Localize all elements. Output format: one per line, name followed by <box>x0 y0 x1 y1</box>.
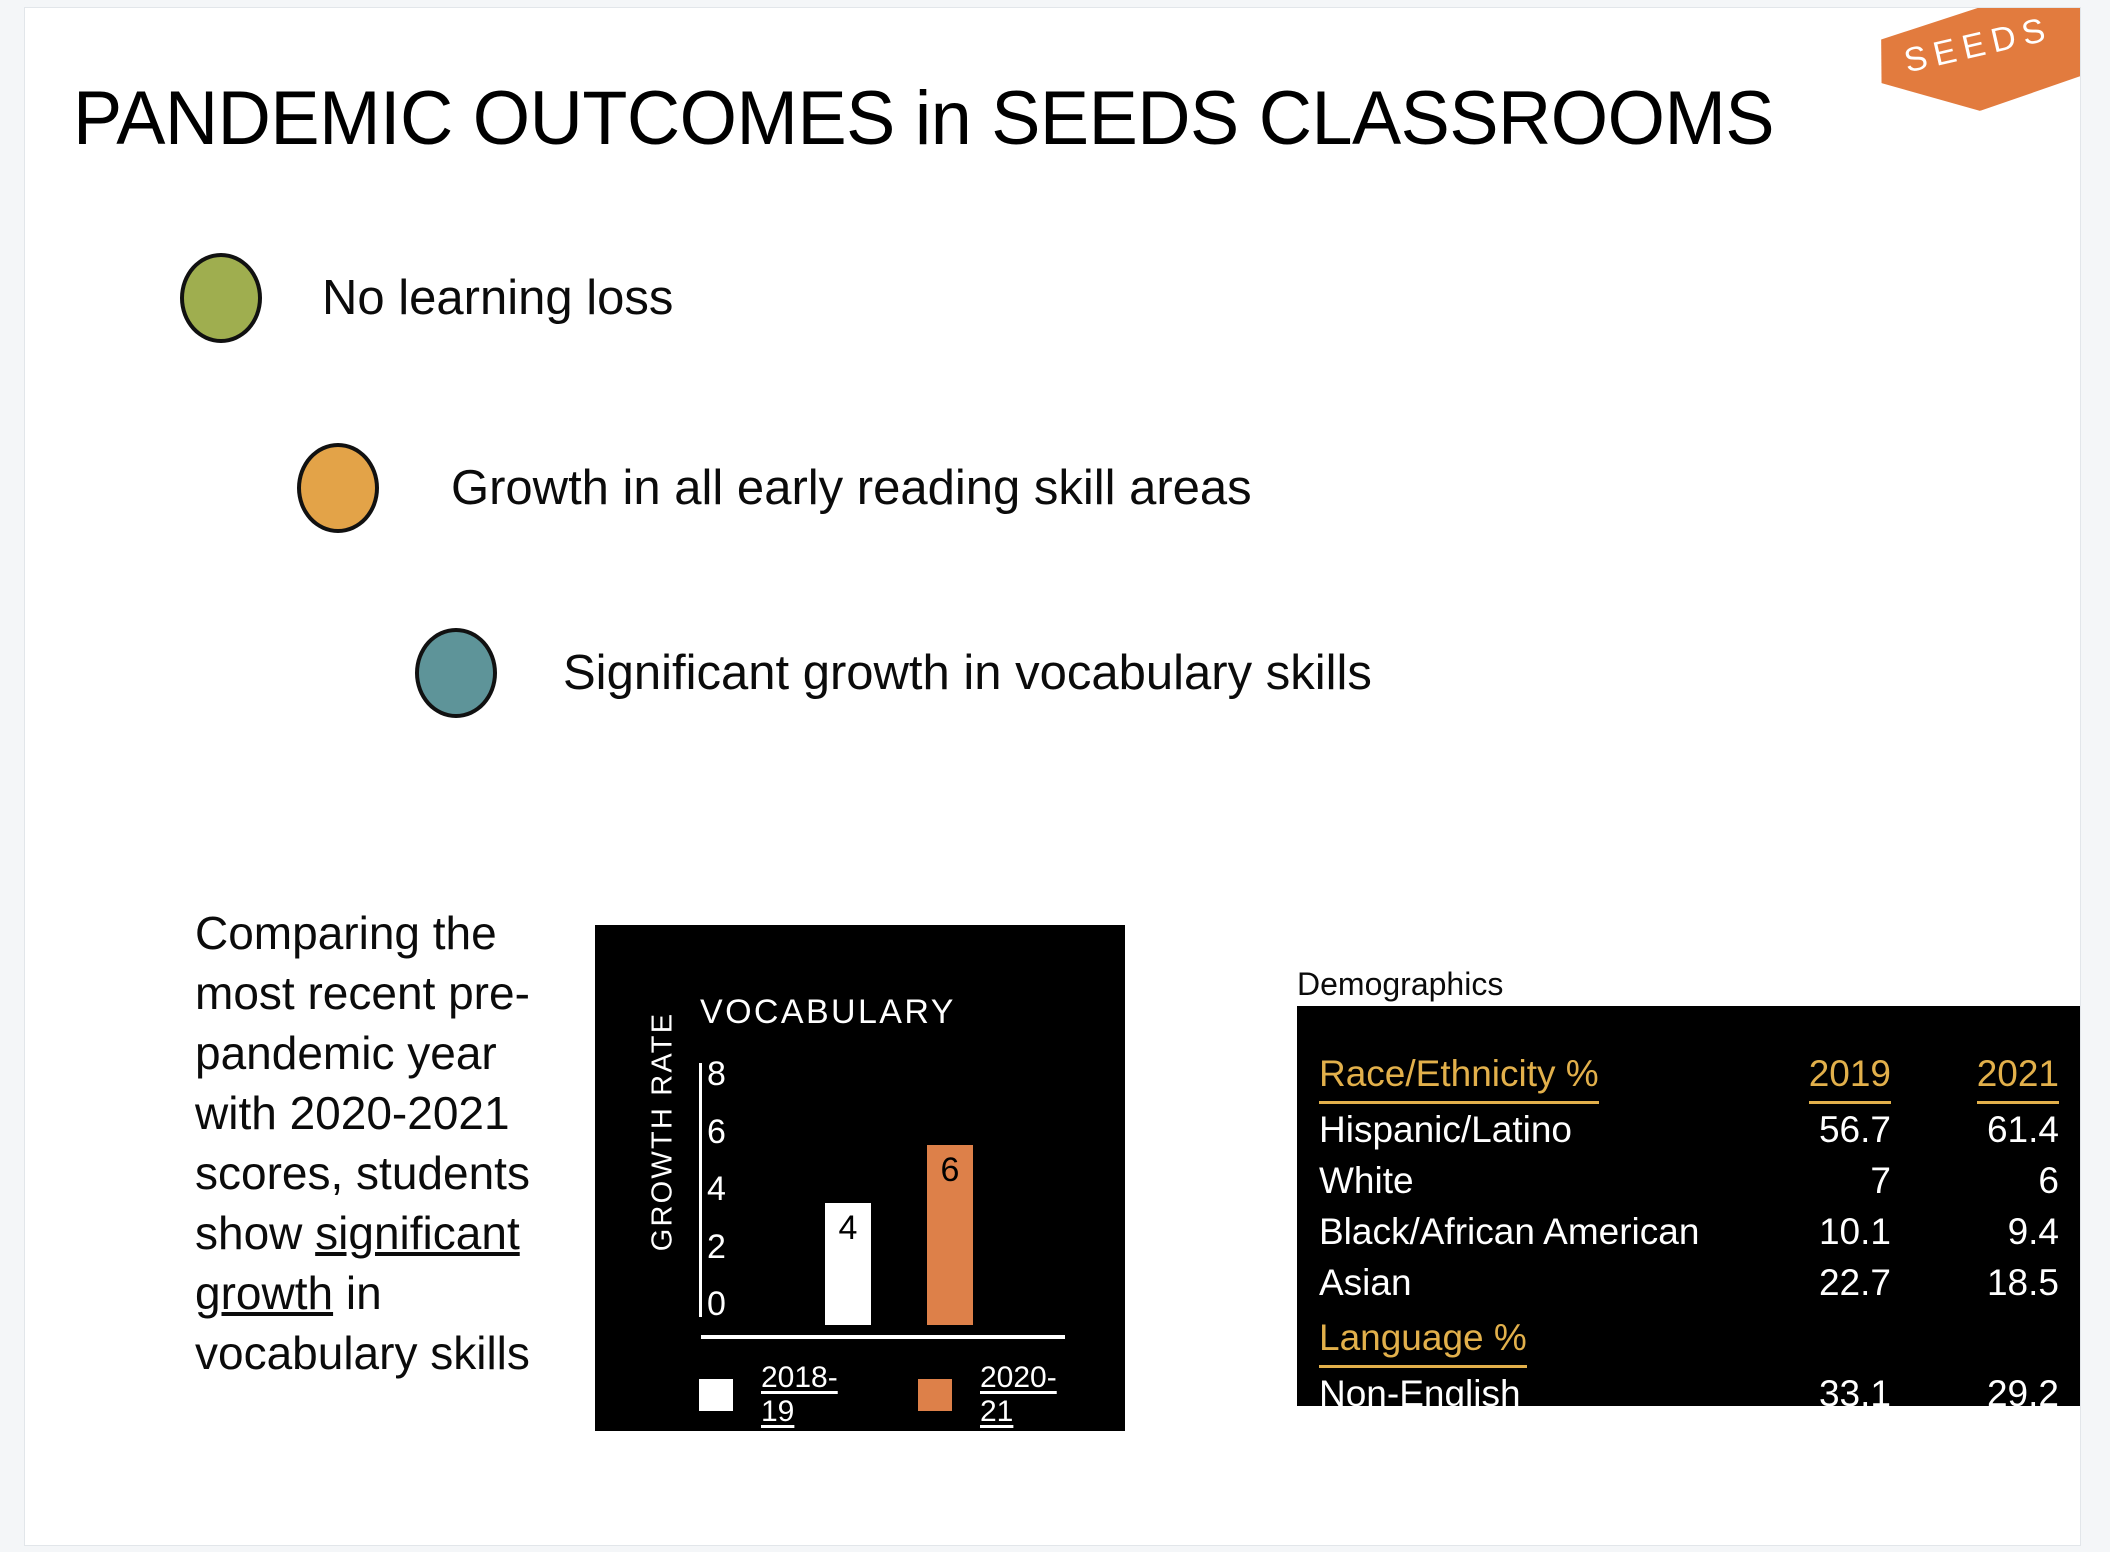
seeds-logo-text: SEEDS <box>1901 10 2056 82</box>
section-header-spacer-2021 <box>1891 1308 2059 1368</box>
bullet-label: No learning loss <box>322 270 673 326</box>
row-value-2021: 9.4 <box>1891 1206 2059 1257</box>
legend-label: 2018-19 <box>761 1361 860 1429</box>
column-header-race-ethnicity: Race/Ethnicity % <box>1319 1048 1723 1104</box>
bar-2018-19: 4 <box>825 1203 871 1325</box>
row-value-2019: 33.1 <box>1723 1368 1891 1419</box>
row-label: Hispanic/Latino <box>1319 1104 1723 1155</box>
legend-swatch-icon <box>918 1379 952 1411</box>
row-label: White <box>1319 1155 1723 1206</box>
chart-legend: 2018-19 2020-21 <box>699 1361 1079 1429</box>
row-value-2021: 6 <box>1891 1155 2059 1206</box>
bullet-item-vocabulary-growth: Significant growth in vocabulary skills <box>415 628 1372 718</box>
legend-item-2020-21: 2020-21 <box>918 1361 1079 1429</box>
row-label: Asian <box>1319 1257 1723 1308</box>
table-header-row: Race/Ethnicity % 2019 2021 <box>1319 1048 2059 1104</box>
bullet-circle-icon <box>180 253 262 343</box>
row-value-2021: 18.5 <box>1891 1257 2059 1308</box>
column-header-label: Race/Ethnicity % <box>1319 1048 1599 1104</box>
column-header-2021: 2021 <box>1891 1048 2059 1104</box>
row-label: Black/African American <box>1319 1206 1723 1257</box>
legend-swatch-icon <box>699 1379 733 1411</box>
summary-paragraph: Comparing the most recent pre-pandemic y… <box>195 903 555 1383</box>
bar-2020-21: 6 <box>927 1145 973 1325</box>
vocabulary-bar-chart: VOCABULARY GROWTH RATE 8 6 4 2 0 4 6 <box>595 925 1125 1431</box>
bullet-circle-icon <box>415 628 497 718</box>
section-header-label-wrap: Language % <box>1319 1308 1723 1368</box>
demographics-table-panel: Race/Ethnicity % 2019 2021 Hispanic/Lati… <box>1297 1006 2080 1406</box>
row-value-2021: 61.4 <box>1891 1104 2059 1155</box>
table-row: Non-English 33.1 29.2 <box>1319 1368 2059 1419</box>
table-row: White 7 6 <box>1319 1155 2059 1206</box>
chart-y-axis-label: GROWTH RATE <box>647 1012 680 1252</box>
table-row: Black/African American 10.1 9.4 <box>1319 1206 2059 1257</box>
y-tick: 8 <box>707 1057 741 1091</box>
column-header-label: 2019 <box>1809 1048 1891 1104</box>
chart-y-axis-line <box>699 1063 702 1317</box>
row-label: Non-English <box>1319 1368 1723 1419</box>
y-tick: 6 <box>707 1115 741 1149</box>
chart-y-axis-ticks: 8 6 4 2 0 <box>707 1057 741 1321</box>
slide-viewer: PANDEMIC OUTCOMES in SEEDS CLASSROOMS SE… <box>0 0 2110 1552</box>
row-value-2019: 10.1 <box>1723 1206 1891 1257</box>
table-row: Hispanic/Latino 56.7 61.4 <box>1319 1104 2059 1155</box>
chart-x-axis-line <box>701 1335 1065 1339</box>
y-tick: 4 <box>707 1172 741 1206</box>
chart-title: VOCABULARY <box>700 993 956 1032</box>
chart-plot-area: 4 6 <box>745 1063 1065 1325</box>
y-tick: 2 <box>707 1230 741 1264</box>
column-header-2019: 2019 <box>1723 1048 1891 1104</box>
presentation-slide: PANDEMIC OUTCOMES in SEEDS CLASSROOMS SE… <box>25 8 2080 1545</box>
section-header-label: Language % <box>1319 1312 1527 1368</box>
page-title: PANDEMIC OUTCOMES in SEEDS CLASSROOMS <box>73 76 1774 162</box>
bullet-circle-icon <box>297 443 379 533</box>
bullet-item-growth-reading: Growth in all early reading skill areas <box>297 443 1252 533</box>
column-header-label: 2021 <box>1977 1048 2059 1104</box>
demographics-table: Race/Ethnicity % 2019 2021 Hispanic/Lati… <box>1319 1048 2059 1419</box>
row-value-2021: 29.2 <box>1891 1368 2059 1419</box>
row-value-2019: 7 <box>1723 1155 1891 1206</box>
row-value-2019: 22.7 <box>1723 1257 1891 1308</box>
bullet-item-no-learning-loss: No learning loss <box>180 253 673 343</box>
demographics-caption: Demographics <box>1297 966 1503 1003</box>
table-row: Asian 22.7 18.5 <box>1319 1257 2059 1308</box>
bullet-label: Growth in all early reading skill areas <box>451 460 1252 516</box>
legend-label: 2020-21 <box>980 1361 1079 1429</box>
y-tick: 0 <box>707 1287 741 1321</box>
section-header-spacer-2019 <box>1723 1308 1891 1368</box>
table-section-header-language: Language % <box>1319 1308 2059 1368</box>
bar-value-label: 4 <box>825 1209 871 1248</box>
bullet-label: Significant growth in vocabulary skills <box>563 645 1372 701</box>
row-value-2019: 56.7 <box>1723 1104 1891 1155</box>
bar-value-label: 6 <box>927 1151 973 1190</box>
legend-item-2018-19: 2018-19 <box>699 1361 860 1429</box>
